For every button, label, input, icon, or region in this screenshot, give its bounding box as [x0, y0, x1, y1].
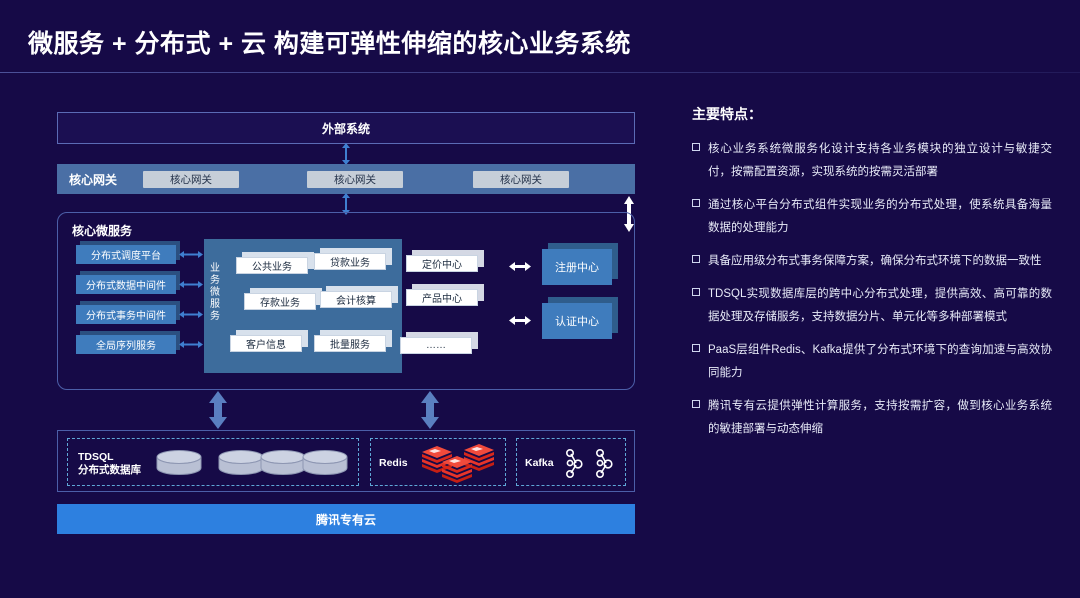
service-chip-6-label: 产品中心 [406, 289, 478, 306]
kafka-nodes-icon-group [563, 447, 621, 481]
middleware-box-4[interactable]: 全局序列服务 [76, 335, 176, 354]
tencent-cloud-label: 腾讯专有云 [316, 511, 376, 528]
service-chip-4[interactable]: 存款业务 [244, 293, 316, 310]
service-chip-9[interactable]: …… [400, 337, 472, 354]
auth-center-box[interactable]: 认证中心 [542, 303, 612, 339]
arrow-up-down-thick-icon-1 [207, 390, 229, 430]
title-divider [0, 72, 1080, 73]
feature-item: 通过核心平台分布式组件实现业务的分布式处理，使系统具备海量数据的处理能力 [692, 194, 1052, 240]
feature-text: 具备应用级分布式事务保障方案，确保分布式环境下的数据一致性 [708, 250, 1042, 273]
features-title: 主要特点： [692, 104, 1052, 124]
database-cylinder-icon-group [156, 449, 348, 479]
checkbox-icon [692, 199, 700, 207]
register-center-label: 注册中心 [542, 249, 612, 285]
checkbox-icon [692, 400, 700, 408]
tdsql-cell: TDSQL 分布式数据库 [67, 438, 359, 486]
service-chip-8-label: 批量服务 [314, 335, 386, 352]
service-chip-7[interactable]: 客户信息 [230, 335, 302, 352]
feature-item: TDSQL实现数据库层的跨中心分布式处理，提供高效、高可靠的数据处理及存储服务，… [692, 283, 1052, 329]
core-gateway-bar: 核心网关 核心网关 核心网关 核心网关 [57, 164, 635, 194]
business-microservices-label: 业务微服务 [208, 263, 222, 323]
middleware-box-1[interactable]: 分布式调度平台 [76, 245, 176, 264]
arrow-left-right-white-icon-1 [508, 261, 532, 272]
arrow-left-right-white-icon-2 [508, 315, 532, 326]
checkbox-icon [692, 288, 700, 296]
middleware-box-4-label: 全局序列服务 [76, 335, 176, 354]
arrow-left-right-icon-2 [178, 280, 204, 289]
service-chip-8[interactable]: 批量服务 [314, 335, 386, 352]
gateway-chip-3[interactable]: 核心网关 [473, 171, 569, 188]
arrow-left-right-icon-3 [178, 310, 204, 319]
service-chip-9-label: …… [400, 337, 472, 354]
gateway-chip-1[interactable]: 核心网关 [143, 171, 239, 188]
feature-text: TDSQL实现数据库层的跨中心分布式处理，提供高效、高可靠的数据处理及存储服务，… [708, 283, 1052, 329]
tdsql-label-line1: TDSQL [78, 451, 141, 464]
middleware-box-3[interactable]: 分布式事务中间件 [76, 305, 176, 324]
connector-external-to-gateway-icon [345, 144, 347, 164]
service-chip-5-label: 会计核算 [320, 291, 392, 308]
service-chip-6[interactable]: 产品中心 [406, 289, 478, 306]
service-chip-5[interactable]: 会计核算 [320, 291, 392, 308]
feature-item: 核心业务系统微服务化设计支持各业务模块的独立设计与敏捷交付，按需配置资源，实现系… [692, 138, 1052, 184]
service-chip-4-label: 存款业务 [244, 293, 316, 310]
feature-item: PaaS层组件Redis、Kafka提供了分布式环境下的查询加速与高效协同能力 [692, 339, 1052, 385]
feature-text: 腾讯专有云提供弹性计算服务，支持按需扩容，做到核心业务系统的敏捷部署与动态伸缩 [708, 395, 1052, 441]
core-microservices-panel: 核心微服务 分布式调度平台 分布式数据中间件 分布式事务中间件 全局序列服务 [57, 212, 635, 390]
page-title: 微服务 + 分布式 + 云 构建可弹性伸缩的核心业务系统 [28, 24, 631, 60]
checkbox-icon [692, 255, 700, 263]
external-system-label: 外部系统 [322, 120, 370, 137]
redis-label: Redis [379, 457, 408, 470]
kafka-label: Kafka [525, 457, 554, 470]
architecture-diagram: 外部系统 核心网关 核心网关 核心网关 核心网关 核心微服务 分布式调度平台 分 [57, 112, 635, 540]
middleware-box-2-label: 分布式数据中间件 [76, 275, 176, 294]
database-cylinder-2 [219, 451, 263, 475]
auth-center-label: 认证中心 [542, 303, 612, 339]
kafka-cell: Kafka [516, 438, 626, 486]
checkbox-icon [692, 143, 700, 151]
database-cylinder-4 [303, 451, 347, 475]
service-chip-2-label: 贷款业务 [314, 253, 386, 270]
middleware-box-2[interactable]: 分布式数据中间件 [76, 275, 176, 294]
middleware-box-3-label: 分布式事务中间件 [76, 305, 176, 324]
infrastructure-row: TDSQL 分布式数据库 [57, 430, 635, 492]
checkbox-icon [692, 344, 700, 352]
core-microservices-title: 核心微服务 [72, 222, 132, 239]
arrow-left-right-icon-1 [178, 250, 204, 259]
service-chip-1-label: 公共业务 [236, 257, 308, 274]
service-chip-1[interactable]: 公共业务 [236, 257, 308, 274]
middleware-box-1-label: 分布式调度平台 [76, 245, 176, 264]
feature-text: 核心业务系统微服务化设计支持各业务模块的独立设计与敏捷交付，按需配置资源，实现系… [708, 138, 1052, 184]
service-chip-3[interactable]: 定价中心 [406, 255, 478, 272]
external-system-box: 外部系统 [57, 112, 635, 144]
service-chip-7-label: 客户信息 [230, 335, 302, 352]
feature-text: 通过核心平台分布式组件实现业务的分布式处理，使系统具备海量数据的处理能力 [708, 194, 1052, 240]
service-chip-2[interactable]: 贷款业务 [314, 253, 386, 270]
feature-text: PaaS层组件Redis、Kafka提供了分布式环境下的查询加速与高效协同能力 [708, 339, 1052, 385]
kafka-cluster-1 [567, 450, 582, 477]
core-gateway-title: 核心网关 [69, 171, 143, 188]
kafka-cluster-2 [597, 450, 612, 477]
features-panel: 主要特点： 核心业务系统微服务化设计支持各业务模块的独立设计与敏捷交付，按需配置… [692, 104, 1052, 451]
arrow-left-right-icon-4 [178, 340, 204, 349]
database-cylinder-3 [261, 451, 305, 475]
gateway-chip-2[interactable]: 核心网关 [307, 171, 403, 188]
redis-cube-icon-group [415, 444, 501, 484]
tencent-cloud-bar: 腾讯专有云 [57, 504, 635, 534]
connector-gateway-to-core-icon [345, 194, 347, 214]
register-center-box[interactable]: 注册中心 [542, 249, 612, 285]
tdsql-label-line2: 分布式数据库 [78, 464, 141, 477]
tdsql-label: TDSQL 分布式数据库 [78, 451, 141, 477]
slide-root: 微服务 + 分布式 + 云 构建可弹性伸缩的核心业务系统 外部系统 核心网关 核… [0, 0, 1080, 598]
service-chip-3-label: 定价中心 [406, 255, 478, 272]
feature-item: 腾讯专有云提供弹性计算服务，支持按需扩容，做到核心业务系统的敏捷部署与动态伸缩 [692, 395, 1052, 441]
database-cylinder-1 [157, 451, 201, 475]
redis-cell: Redis [370, 438, 506, 486]
arrow-up-down-thick-icon-2 [419, 390, 441, 430]
feature-item: 具备应用级分布式事务保障方案，确保分布式环境下的数据一致性 [692, 250, 1052, 273]
